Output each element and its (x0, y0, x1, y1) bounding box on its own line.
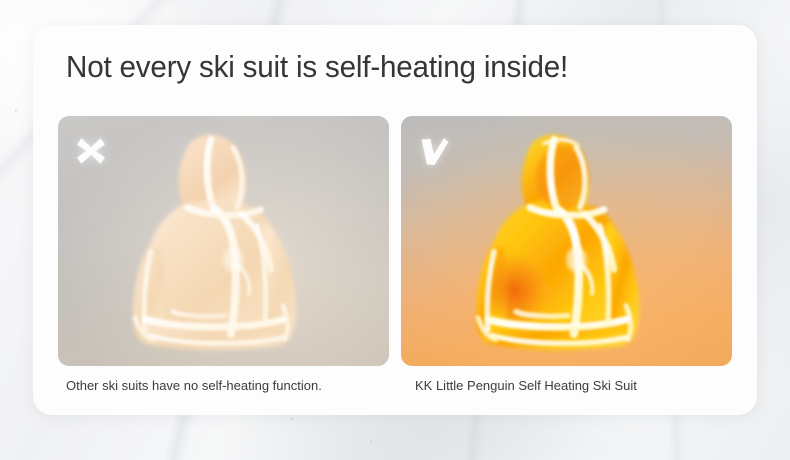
cross-x-icon (74, 134, 108, 168)
check-mark-icon (417, 134, 451, 168)
thermal-jacket-illustration-cold (115, 130, 333, 362)
comparison-grid: Other ski suits have no self-heating fun… (58, 116, 733, 395)
comparison-caption-kk-little-penguin: KK Little Penguin Self Heating Ski Suit (401, 377, 732, 395)
thermal-image-panel-cold[interactable] (58, 116, 389, 366)
promo-card: Not every ski suit is self-heating insid… (33, 25, 757, 415)
comparison-caption-other-ski-suit: Other ski suits have no self-heating fun… (58, 377, 389, 395)
comparison-column-kk-little-penguin: KK Little Penguin Self Heating Ski Suit (401, 116, 732, 395)
thermal-image-panel-hot[interactable] (401, 116, 732, 366)
page-title: Not every ski suit is self-heating insid… (66, 47, 568, 87)
comparison-column-other-ski-suit: Other ski suits have no self-heating fun… (58, 116, 389, 395)
thermal-jacket-illustration-heated (458, 130, 676, 362)
